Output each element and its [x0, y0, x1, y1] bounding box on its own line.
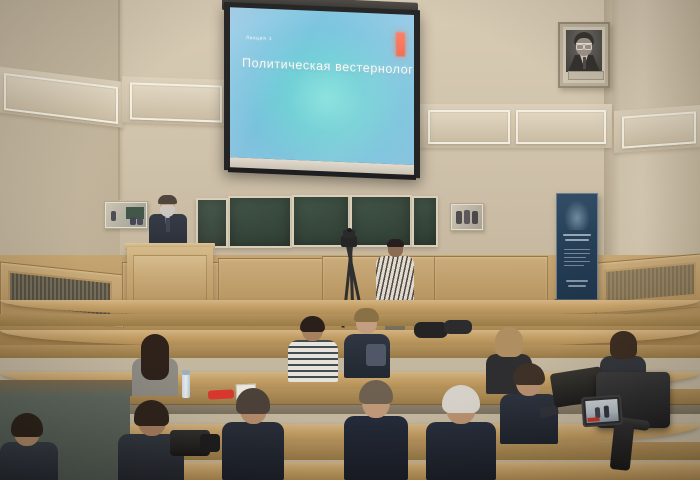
camera-lcd-panel	[581, 395, 623, 428]
water-bottle	[182, 372, 190, 398]
attendee-torso	[0, 442, 58, 480]
wall-photo-right	[450, 203, 484, 231]
attendee-dark-suit	[222, 392, 284, 480]
attendee-hair	[359, 380, 393, 404]
portrait-photo	[566, 30, 602, 72]
attendee-hair	[442, 385, 480, 413]
attendee-torso	[222, 422, 284, 480]
projection-screen: Лекция 1 Политическая вестернология	[224, 2, 420, 178]
attendee-hair	[610, 331, 637, 359]
student-plaid-shirt	[288, 318, 338, 380]
lcd-record-strip	[587, 417, 599, 422]
student-backpack	[366, 344, 386, 366]
camera-lcd-screen	[585, 399, 618, 423]
attendee-far-left	[0, 416, 58, 480]
wall-molding-panel	[622, 111, 696, 148]
portrait-name-plate	[568, 71, 604, 80]
portrait-mat	[563, 27, 605, 83]
bottle-cap	[182, 370, 190, 375]
student-hair	[141, 334, 169, 380]
speaker-hair	[158, 195, 177, 204]
student-torso	[288, 340, 338, 382]
slide-surface: Лекция 1 Политическая вестернология	[230, 7, 414, 165]
portrait-tie	[583, 57, 586, 69]
attendee-torso	[344, 416, 408, 480]
camera-lens-icon	[200, 434, 220, 452]
student-hair	[354, 308, 379, 322]
floor-edge	[0, 380, 132, 396]
framed-portrait	[558, 22, 610, 88]
banner-emblem	[564, 200, 590, 230]
wall-molding-panel	[130, 82, 222, 122]
student-dark-hoodie	[344, 310, 390, 376]
chalkboard-panel	[228, 196, 292, 248]
glasses-icon	[576, 43, 592, 48]
wall-molding-panel	[516, 110, 606, 144]
chalkboard-panel	[412, 196, 438, 247]
attendee-hair	[11, 413, 43, 437]
wall-photo-left	[104, 201, 148, 229]
chalkboard-panel	[196, 198, 228, 248]
lecture-hall-photo: Лекция 1 Политическая вестернология	[0, 0, 700, 480]
wall-molding-panel	[428, 110, 510, 144]
equipment-bag	[444, 320, 472, 334]
wall-panel-wood	[434, 256, 548, 306]
attendee-hair	[513, 363, 545, 385]
equipment-bag	[414, 322, 448, 338]
screen-glare	[230, 7, 414, 165]
attendee-grey-hair	[344, 384, 408, 480]
student-hair	[300, 316, 325, 332]
lcd-figure	[604, 406, 610, 418]
operator-hair	[387, 239, 404, 247]
student-hair	[495, 327, 523, 357]
camera-lens-icon	[347, 228, 352, 232]
attendee-hair	[134, 400, 169, 426]
attendee-white-hair	[426, 388, 496, 480]
roll-up-banner	[556, 193, 598, 303]
student-long-dark-hair	[132, 336, 178, 394]
speaker-tie	[166, 218, 170, 232]
attendee-torso	[426, 422, 496, 480]
attendee-hair	[236, 388, 270, 414]
attendee-torso	[500, 394, 558, 444]
